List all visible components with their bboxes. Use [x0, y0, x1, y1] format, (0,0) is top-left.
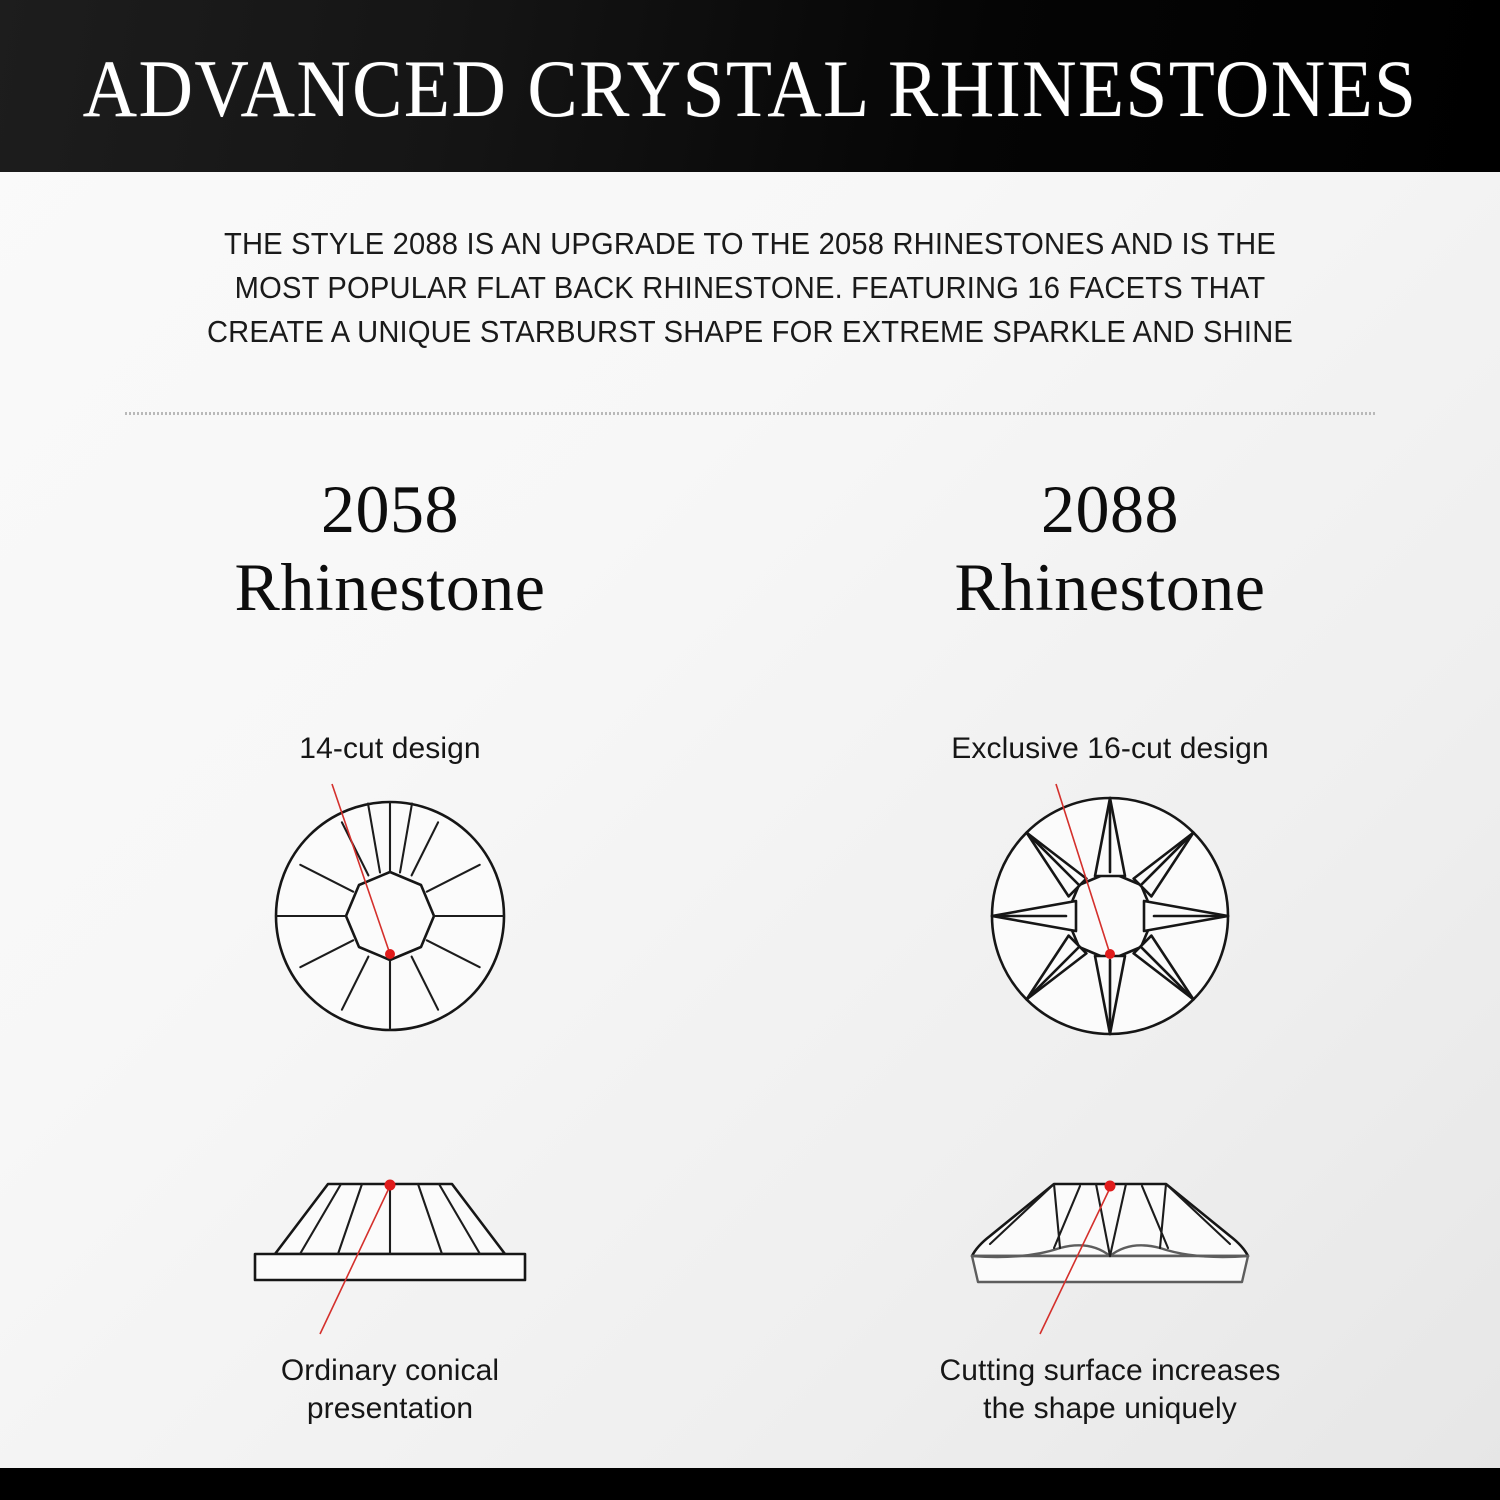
- infographic-page: ADVANCED CRYSTAL RHINESTONES THE STYLE 2…: [0, 0, 1500, 1500]
- intro-line-3: CREATE A UNIQUE STARBURST SHAPE FOR EXTR…: [158, 310, 1342, 354]
- page-title: ADVANCED CRYSTAL RHINESTONES: [60, 44, 1440, 134]
- intro-line-2: MOST POPULAR FLAT BACK RHINESTONE. FEATU…: [158, 266, 1342, 310]
- heading-word: Rhinestone: [780, 548, 1440, 626]
- dotted-divider: [125, 412, 1375, 415]
- top-view-figure-2088: [780, 768, 1440, 1068]
- conical-profile-icon: [210, 1156, 570, 1346]
- column-heading-2058: 2058 Rhinestone: [60, 470, 720, 626]
- side-view-label-2058: Ordinary conical presentation: [60, 1352, 720, 1428]
- side-view-figure-2088: [780, 1156, 1440, 1346]
- side-view-label-2088: Cutting surface increases the shape uniq…: [780, 1352, 1440, 1428]
- column-2058: 2058 Rhinestone 14-cut design: [60, 470, 720, 1428]
- column-2088: 2088 Rhinestone Exclusive 16-cut design: [780, 470, 1440, 1428]
- starburst-facet-wheel-icon: [930, 768, 1290, 1068]
- side-view-label-2088-line1: Cutting surface increases: [780, 1352, 1440, 1390]
- header-bar: ADVANCED CRYSTAL RHINESTONES: [0, 0, 1500, 172]
- side-view-label-2088-line2: the shape uniquely: [780, 1390, 1440, 1428]
- footer-bar: [0, 1468, 1500, 1500]
- heading-number: 2088: [780, 470, 1440, 548]
- top-view-label-2088: Exclusive 16-cut design: [780, 730, 1440, 768]
- side-view-label-2058-line1: Ordinary conical: [60, 1352, 720, 1390]
- side-view-figure-2058: [60, 1156, 720, 1346]
- top-view-label-2058: 14-cut design: [60, 730, 720, 768]
- intro-line-1: THE STYLE 2088 IS AN UPGRADE TO THE 2058…: [158, 222, 1342, 266]
- heading-number: 2058: [60, 470, 720, 548]
- top-view-figure-2058: [60, 768, 720, 1068]
- heading-word: Rhinestone: [60, 548, 720, 626]
- side-view-label-2058-line2: presentation: [60, 1390, 720, 1428]
- column-heading-2088: 2088 Rhinestone: [780, 470, 1440, 626]
- radial-facet-wheel-icon: [210, 768, 570, 1068]
- scalloped-profile-icon: [930, 1156, 1290, 1346]
- intro-paragraph: THE STYLE 2088 IS AN UPGRADE TO THE 2058…: [158, 222, 1342, 354]
